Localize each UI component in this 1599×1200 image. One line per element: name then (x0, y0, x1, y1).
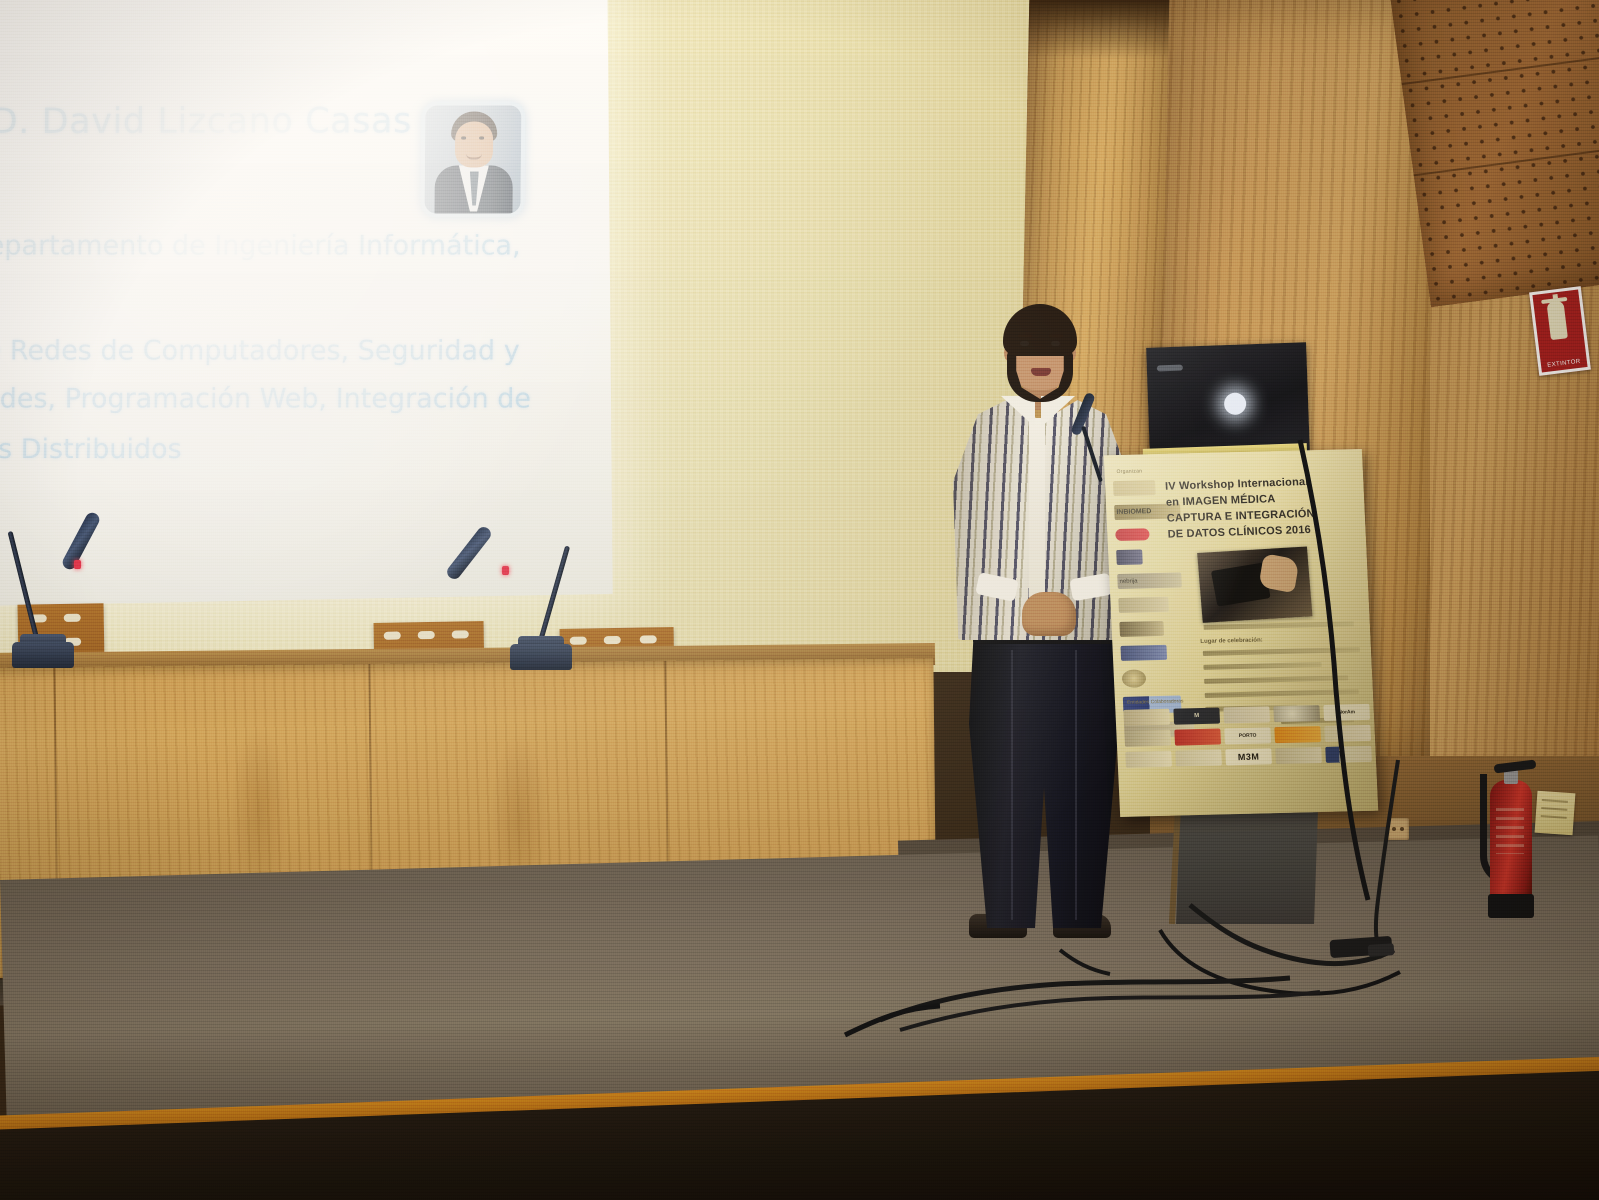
photo-scene: EXTINTOR D. David Lizcano Casas epartame… (0, 0, 1599, 1200)
logo-norte: NorAm (1323, 704, 1370, 721)
slide-line-4: as Distribuidos (0, 434, 182, 465)
mic-gooseneck (536, 545, 570, 648)
fire-extinguisher-sign: EXTINTOR (1529, 286, 1591, 376)
logo-grupo (1118, 597, 1169, 613)
eyebrow-left (1018, 334, 1032, 338)
board-glint (1157, 365, 1183, 372)
mouth (1031, 368, 1051, 376)
slide-line-3: edes, Programación Web, Integración de (0, 384, 531, 415)
headshot-eye-right (479, 136, 484, 139)
socket-hole-left (1392, 827, 1396, 831)
logo-rojo (1174, 729, 1221, 746)
ceiling-shadow (1028, 0, 1169, 60)
logo-blank (1324, 725, 1371, 742)
eye-left (1020, 341, 1029, 346)
logo-fundacion (1123, 709, 1170, 726)
slide-headshot-photo (420, 101, 525, 217)
slide-line-2: e Redes de Computadores, Seguridad y (0, 336, 520, 367)
logo-circulo (1119, 621, 1164, 637)
logo-ave (1175, 749, 1222, 766)
logo-m3m: M3M (1225, 748, 1272, 765)
eyebrow-right (1049, 334, 1063, 338)
clasped-hands (1022, 592, 1076, 636)
socket-hole-right (1400, 827, 1404, 831)
hair (1003, 304, 1077, 356)
logo-nebrija: nebrija (1117, 572, 1182, 589)
poster-photo-caption (1204, 621, 1354, 630)
logo-med (1120, 645, 1167, 661)
eye-right (1051, 341, 1060, 346)
logo-u (1125, 751, 1172, 768)
sign-label: EXTINTOR (1541, 358, 1587, 370)
logo-ini (1116, 549, 1143, 565)
logo-gris (1223, 706, 1270, 723)
logo-m-dark: M (1173, 708, 1220, 725)
mic-led (502, 566, 509, 575)
logo-sello (1122, 669, 1147, 688)
logo-corona (1275, 747, 1322, 764)
poster-heading: IV Workshop Internacional en IMAGEN MÉDI… (1165, 472, 1368, 543)
light-reflection (1224, 392, 1247, 415)
slide-title: D. David Lizcano Casas (0, 101, 412, 142)
speaker (925, 300, 1140, 950)
poster-sponsor-logos: M NorAm PORTO M3M (1123, 704, 1372, 768)
sign-body (1546, 300, 1568, 340)
extinguisher-info-card (1535, 791, 1576, 836)
poster-photo (1197, 546, 1312, 622)
logo-naranja (1274, 726, 1321, 743)
easel-stand (1176, 812, 1318, 924)
logo-xunta (1325, 746, 1372, 763)
mic-gooseneck (8, 531, 41, 647)
fire-extinguisher (1478, 752, 1544, 924)
microphone-right[interactable] (510, 530, 572, 670)
logo-red (1115, 528, 1150, 541)
poster-venue-label: Lugar de celebración: (1200, 637, 1263, 645)
logo-esfera (1273, 705, 1320, 722)
mic-led (74, 560, 81, 569)
dark-board-panel (1146, 342, 1310, 458)
wall-power-socket[interactable] (1387, 818, 1409, 840)
workshop-poster: Organizan INBIOMED nebrija IV Workshop I… (1104, 449, 1378, 817)
logo-junta2 (1124, 730, 1171, 747)
poster-organizers-label: Organizan (1116, 468, 1142, 475)
mic-base (12, 642, 74, 668)
extinguisher-base (1488, 894, 1534, 918)
headshot-face (455, 121, 493, 167)
headshot-eye-left (461, 136, 466, 139)
slide-line-1: epartamento de Ingeniería Informática, (0, 231, 521, 262)
logo-universidad (1113, 480, 1156, 496)
trousers (969, 636, 1119, 928)
mic-base (510, 644, 572, 670)
logo-porto: PORTO (1224, 727, 1271, 744)
extinguisher-label (1496, 808, 1524, 854)
microphone-left[interactable] (12, 516, 74, 668)
